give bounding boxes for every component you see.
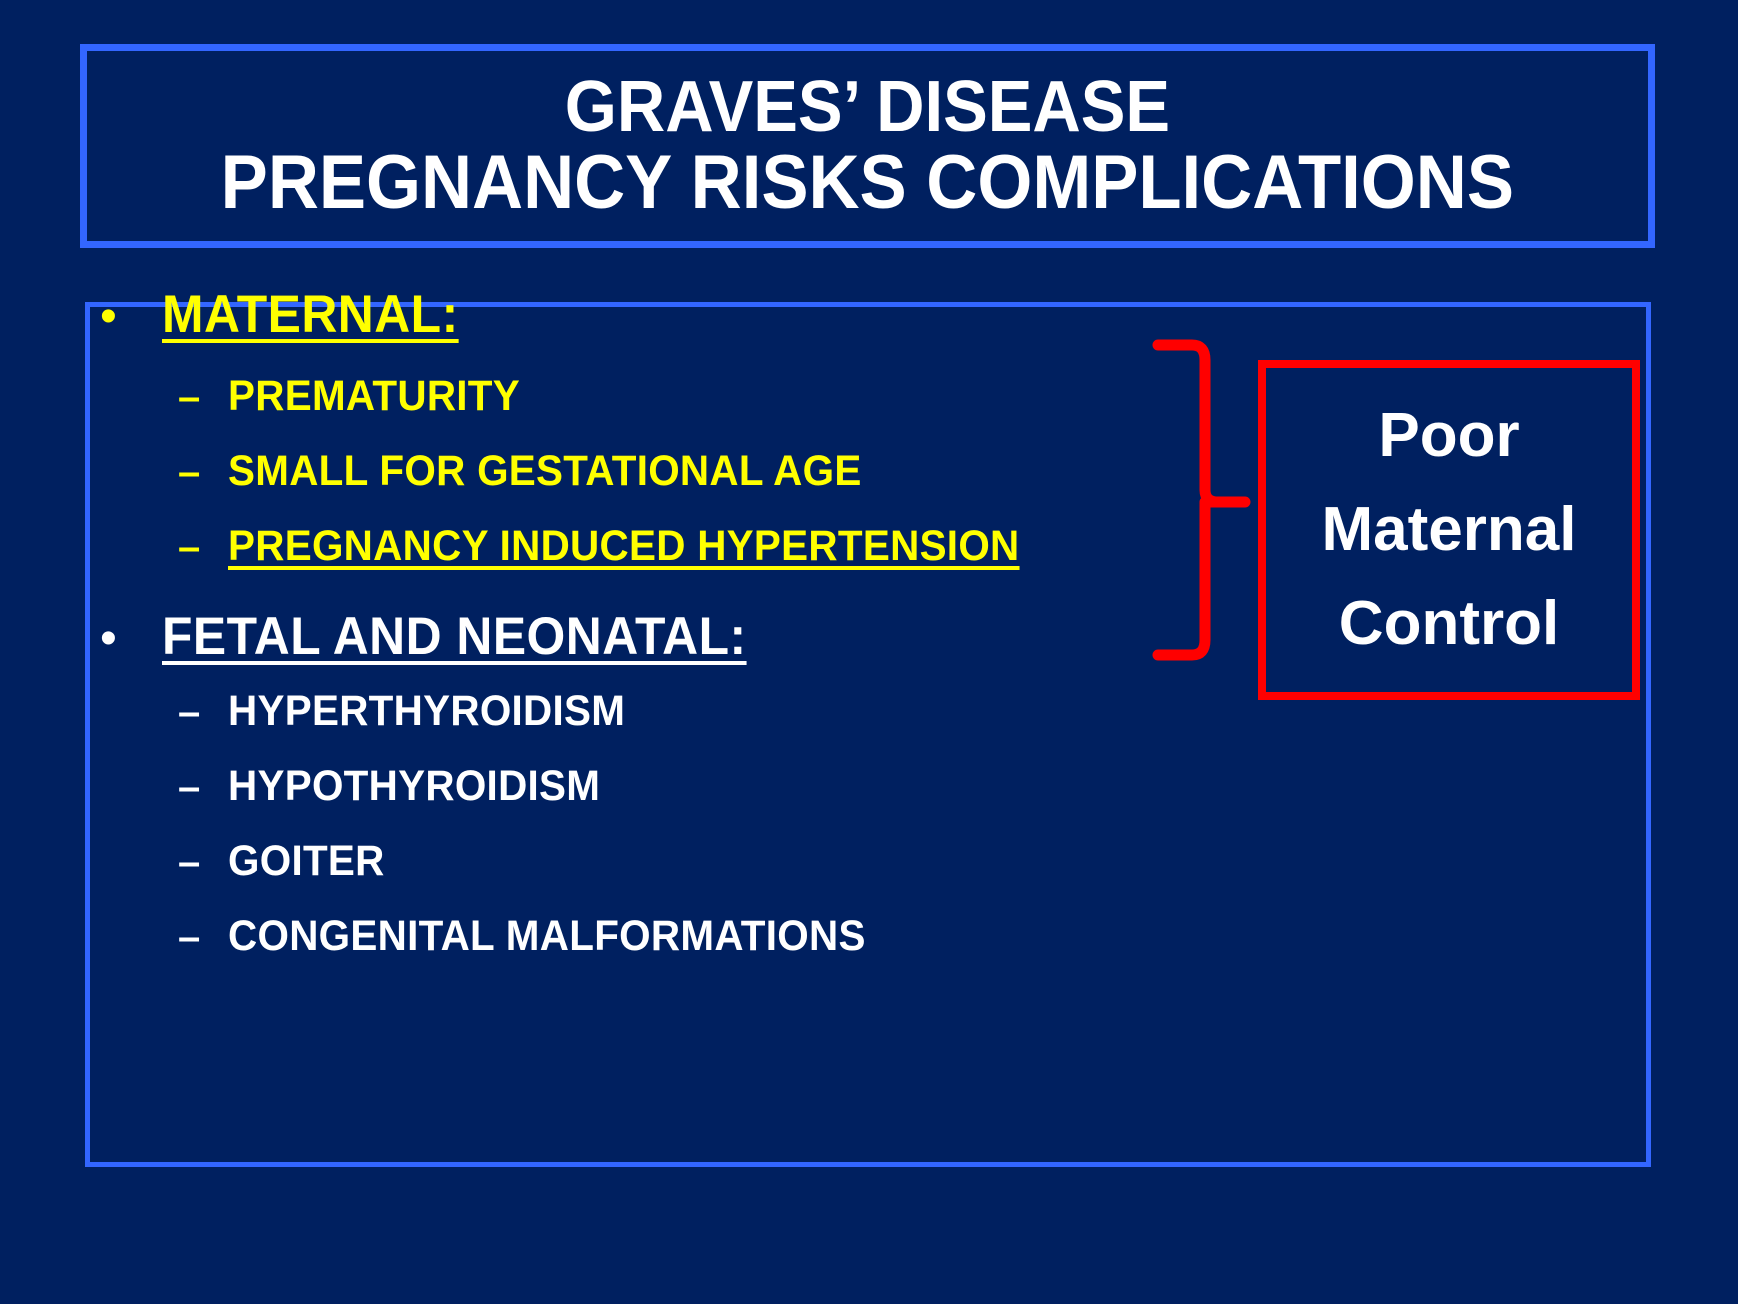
dash-marker-icon: – bbox=[178, 917, 228, 957]
dash-marker-icon: – bbox=[178, 452, 228, 492]
dash-marker-icon: – bbox=[178, 527, 228, 567]
list-item-label: SMALL FOR GESTATIONAL AGE bbox=[228, 450, 862, 493]
list-item-label: GOITER bbox=[228, 840, 385, 883]
page-title-line-1: GRAVES’ DISEASE bbox=[565, 71, 1170, 144]
list-item-label: HYPOTHYROIDISM bbox=[228, 765, 600, 808]
callout-line-3: Control bbox=[1339, 577, 1559, 671]
callout-box-poor-maternal-control: Poor Maternal Control bbox=[1258, 360, 1640, 700]
list-item-label: CONGENITAL MALFORMATIONS bbox=[228, 915, 866, 958]
dash-marker-icon: – bbox=[178, 377, 228, 417]
section-heading-maternal: MATERNAL: bbox=[162, 288, 459, 341]
section-heading-fetal-and-neonatal: FETAL AND NEONATAL: bbox=[162, 610, 747, 663]
list-item-pregnancy-induced-hypertension: – PREGNANCY INDUCED HYPERTENSION bbox=[178, 525, 1070, 568]
list-item-fetal-and-neonatal: • FETAL AND NEONATAL: bbox=[100, 610, 784, 663]
slide-canvas: GRAVES’ DISEASE PREGNANCY RISKS COMPLICA… bbox=[0, 0, 1738, 1304]
dash-marker-icon: – bbox=[178, 767, 228, 807]
list-item-label: PREMATURITY bbox=[228, 375, 520, 418]
list-item-label: HYPERTHYROIDISM bbox=[228, 690, 625, 733]
list-item-label: PREGNANCY INDUCED HYPERTENSION bbox=[228, 525, 1020, 568]
dash-marker-icon: – bbox=[178, 842, 228, 882]
list-item-small-for-gestational-age: – SMALL FOR GESTATIONAL AGE bbox=[178, 450, 902, 493]
callout-line-1: Poor bbox=[1378, 389, 1519, 483]
list-item-congenital-malformations: – CONGENITAL MALFORMATIONS bbox=[178, 915, 906, 958]
list-item-goiter: – GOITER bbox=[178, 840, 395, 883]
dash-marker-icon: – bbox=[178, 692, 228, 732]
list-item-maternal: • MATERNAL: bbox=[100, 288, 478, 341]
list-item-hyperthyroidism: – HYPERTHYROIDISM bbox=[178, 690, 651, 733]
list-item-prematurity: – PREMATURITY bbox=[178, 375, 539, 418]
page-title-line-2: PREGNANCY RISKS COMPLICATIONS bbox=[221, 144, 1514, 222]
title-box: GRAVES’ DISEASE PREGNANCY RISKS COMPLICA… bbox=[80, 44, 1655, 248]
bullet-dot-icon: • bbox=[100, 615, 162, 663]
bullet-dot-icon: • bbox=[100, 293, 162, 341]
list-item-hypothyroidism: – HYPOTHYROIDISM bbox=[178, 765, 624, 808]
callout-line-2: Maternal bbox=[1322, 483, 1577, 577]
